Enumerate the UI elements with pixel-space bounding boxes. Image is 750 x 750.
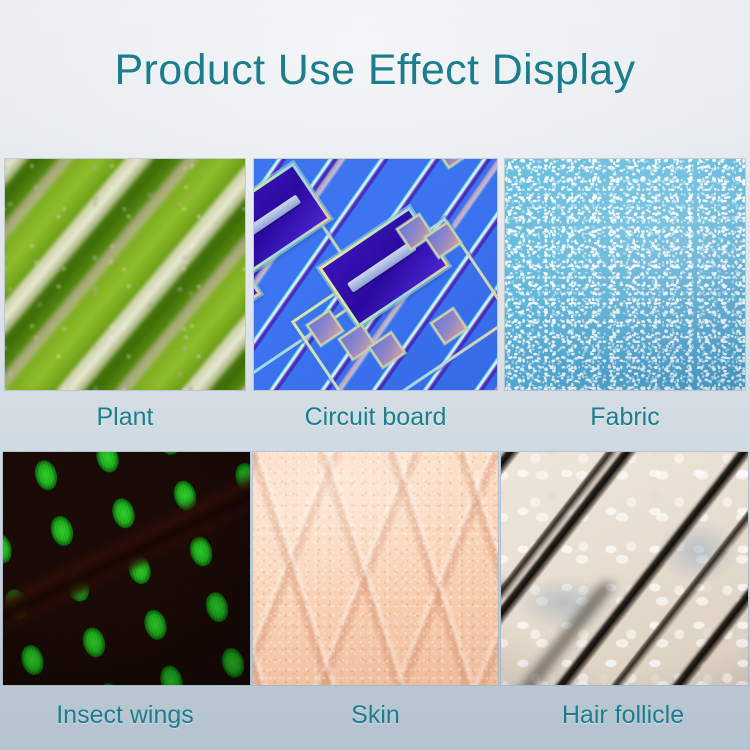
wing-vignette: [3, 452, 250, 685]
plant-image: [5, 159, 245, 390]
skin-image: [253, 452, 498, 685]
gallery-tile-plant[interactable]: [5, 159, 245, 390]
plant-depth-shading: [5, 159, 245, 390]
gallery-tile-hair-follicle[interactable]: [501, 452, 748, 685]
circuit-board-image: [254, 159, 497, 390]
gallery-caption-insect-wings: Insect wings: [0, 700, 250, 730]
product-display-page: Product Use Effect Display Plant: [0, 0, 750, 750]
hair-vignette: [501, 452, 748, 685]
insect-wings-image: [3, 452, 250, 685]
gallery-tile-fabric[interactable]: [505, 159, 745, 390]
circuit-pad-bar: [347, 241, 417, 293]
gallery-caption-circuit-board: Circuit board: [254, 402, 497, 432]
gallery-caption-fabric: Fabric: [505, 402, 745, 432]
circuit-pad-bar: [254, 195, 301, 243]
fabric-shading: [505, 159, 745, 390]
gallery-tile-insect-wings[interactable]: [3, 452, 250, 685]
gallery-tile-circuit-board[interactable]: [254, 159, 497, 390]
skin-gloss-highlight: [253, 452, 498, 685]
gallery-caption-hair-follicle: Hair follicle: [498, 700, 748, 730]
fabric-image: [505, 159, 745, 390]
hair-follicle-image: [501, 452, 748, 685]
gallery-caption-skin: Skin: [253, 700, 498, 730]
gallery-tile-skin[interactable]: [253, 452, 498, 685]
page-title: Product Use Effect Display: [0, 44, 750, 96]
gallery-caption-plant: Plant: [5, 402, 245, 432]
